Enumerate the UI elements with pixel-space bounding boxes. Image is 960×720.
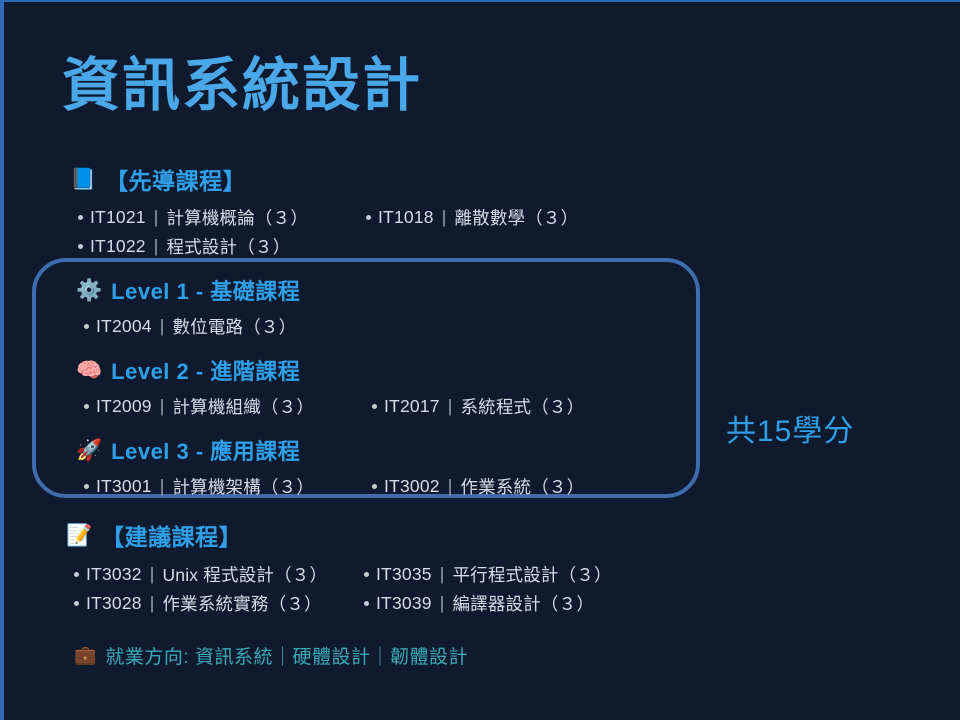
course-code: IT1022 — [90, 236, 146, 257]
list-item: IT1018 | 離散數學（３） — [366, 205, 578, 230]
course-code: IT3002 — [384, 476, 440, 497]
course-name: 計算機組織（３） — [172, 394, 314, 419]
career-direction-label: 就業方向: 資訊系統｜硬體設計｜韌體設計 — [105, 642, 468, 669]
course-code: IT2009 — [96, 396, 152, 417]
level-2-heading-row: 🧠 Level 2 - 進階課程 — [76, 354, 300, 386]
suggested-course-list: IT3032 | Unix 程式設計（３） IT3035 | 平行程式設計（３）… — [74, 562, 706, 620]
list-item: IT3032 | Unix 程式設計（３） — [74, 562, 327, 587]
suggested-heading-row: 📝 【建議課程】 — [66, 518, 706, 552]
list-item: IT2009 | 計算機組織（３） — [84, 394, 314, 419]
course-name: Unix 程式設計（３） — [162, 562, 327, 587]
list-item: IT3002 | 作業系統（３） — [372, 474, 584, 499]
course-code: IT2004 — [96, 316, 152, 337]
section-level-3: 🚀 Level 3 - 應用課程 IT3001 | 計算機架構（３） IT300… — [76, 434, 300, 503]
level-2-heading-label: Level 2 - 進階課程 — [111, 354, 300, 386]
list-item: IT1022 | 程式設計（３） — [78, 234, 290, 259]
level-3-heading-row: 🚀 Level 3 - 應用課程 — [76, 434, 300, 466]
brain-icon: 🧠 — [76, 360, 102, 381]
bullet-icon — [364, 572, 369, 577]
level-2-course-list: IT2009 | 計算機組織（３） IT2017 | 系統程式（３） — [84, 394, 300, 423]
section-pilot-courses: 📘 【先導課程】 IT1021 | 計算機概論（３） IT1018 | 離散數學… — [70, 162, 690, 263]
course-row: IT2009 | 計算機組織（３） IT2017 | 系統程式（３） — [84, 394, 300, 423]
course-name: 計算機概論（３） — [166, 205, 308, 230]
briefcase-icon: 💼 — [74, 647, 96, 665]
list-item: IT3035 | 平行程式設計（３） — [364, 562, 612, 587]
list-item: IT2004 | 數位電路（３） — [84, 314, 296, 339]
section-level-1: ⚙️ Level 1 - 基礎課程 IT2004 | 數位電路（３） — [76, 274, 300, 343]
page-title: 資訊系統設計 — [62, 56, 422, 117]
level-3-course-list: IT3001 | 計算機架構（３） IT3002 | 作業系統（３） — [84, 474, 300, 503]
course-separator: | — [441, 207, 448, 228]
course-row: IT1021 | 計算機概論（３） IT1018 | 離散數學（３） — [78, 205, 690, 234]
list-item: IT3028 | 作業系統實務（３） — [74, 591, 322, 616]
bullet-icon — [74, 572, 79, 577]
bullet-icon — [366, 215, 371, 220]
course-code: IT3032 — [86, 564, 142, 585]
course-separator: | — [153, 236, 160, 257]
course-name: 程式設計（３） — [166, 234, 290, 259]
course-name: 離散數學（３） — [454, 205, 578, 230]
course-separator: | — [439, 564, 446, 585]
list-item: IT3039 | 編譯器設計（３） — [364, 591, 594, 616]
list-item: IT3001 | 計算機架構（３） — [84, 474, 314, 499]
course-separator: | — [159, 396, 166, 417]
course-code: IT1021 — [90, 207, 146, 228]
career-direction-row: 💼 就業方向: 資訊系統｜硬體設計｜韌體設計 — [74, 642, 468, 669]
course-name: 數位電路（３） — [172, 314, 296, 339]
list-item: IT2017 | 系統程式（３） — [372, 394, 584, 419]
level-1-course-list: IT2004 | 數位電路（３） — [84, 314, 300, 343]
course-separator: | — [439, 593, 446, 614]
course-name: 平行程式設計（３） — [452, 562, 611, 587]
pilot-course-list: IT1021 | 計算機概論（３） IT1018 | 離散數學（３） IT102… — [78, 205, 690, 263]
level-3-heading-label: Level 3 - 應用課程 — [111, 434, 300, 466]
levels-group-box: ⚙️ Level 1 - 基礎課程 IT2004 | 數位電路（３） 🧠 Lev… — [32, 258, 700, 498]
level-1-heading-label: Level 1 - 基礎課程 — [111, 274, 300, 306]
course-code: IT3039 — [376, 593, 432, 614]
course-row: IT3028 | 作業系統實務（３） IT3039 | 編譯器設計（３） — [74, 591, 706, 620]
section-level-2: 🧠 Level 2 - 進階課程 IT2009 | 計算機組織（３） IT201… — [76, 354, 300, 423]
suggested-heading-label: 【建議課程】 — [101, 518, 242, 552]
total-credits-label: 共15學分 — [726, 406, 854, 450]
course-separator: | — [159, 316, 166, 337]
course-separator: | — [149, 564, 156, 585]
gear-icon: ⚙️ — [76, 280, 102, 301]
course-name: 編譯器設計（３） — [452, 591, 594, 616]
course-row: IT3032 | Unix 程式設計（３） IT3035 | 平行程式設計（３） — [74, 562, 706, 591]
bullet-icon — [364, 601, 369, 606]
course-separator: | — [447, 476, 454, 497]
course-name: 作業系統實務（３） — [162, 591, 321, 616]
memo-icon: 📝 — [66, 525, 92, 546]
section-suggested-courses: 📝 【建議課程】 IT3032 | Unix 程式設計（３） IT3035 | … — [66, 518, 706, 620]
level-1-heading-row: ⚙️ Level 1 - 基礎課程 — [76, 274, 300, 306]
list-item: IT1021 | 計算機概論（３） — [78, 205, 308, 230]
course-row: IT2004 | 數位電路（３） — [84, 314, 300, 343]
bullet-icon — [84, 404, 89, 409]
course-name: 系統程式（３） — [460, 394, 584, 419]
slide-canvas: 資訊系統設計 📘 【先導課程】 IT1021 | 計算機概論（３） IT1018… — [0, 0, 960, 720]
course-name: 計算機架構（３） — [172, 474, 314, 499]
course-code: IT1018 — [378, 207, 434, 228]
bullet-icon — [372, 484, 377, 489]
course-row: IT3001 | 計算機架構（３） IT3002 | 作業系統（３） — [84, 474, 300, 503]
bullet-icon — [78, 244, 83, 249]
bullet-icon — [372, 404, 377, 409]
blue-book-icon: 📘 — [70, 169, 96, 190]
course-separator: | — [153, 207, 160, 228]
pilot-heading-label: 【先導課程】 — [105, 162, 246, 196]
course-code: IT3001 — [96, 476, 152, 497]
course-code: IT3035 — [376, 564, 432, 585]
bullet-icon — [78, 215, 83, 220]
rocket-icon: 🚀 — [76, 440, 102, 461]
course-code: IT2017 — [384, 396, 440, 417]
course-name: 作業系統（３） — [460, 474, 584, 499]
bullet-icon — [84, 324, 89, 329]
course-separator: | — [159, 476, 166, 497]
pilot-heading-row: 📘 【先導課程】 — [70, 162, 690, 196]
course-separator: | — [447, 396, 454, 417]
course-code: IT3028 — [86, 593, 142, 614]
bullet-icon — [84, 484, 89, 489]
course-separator: | — [149, 593, 156, 614]
bullet-icon — [74, 601, 79, 606]
